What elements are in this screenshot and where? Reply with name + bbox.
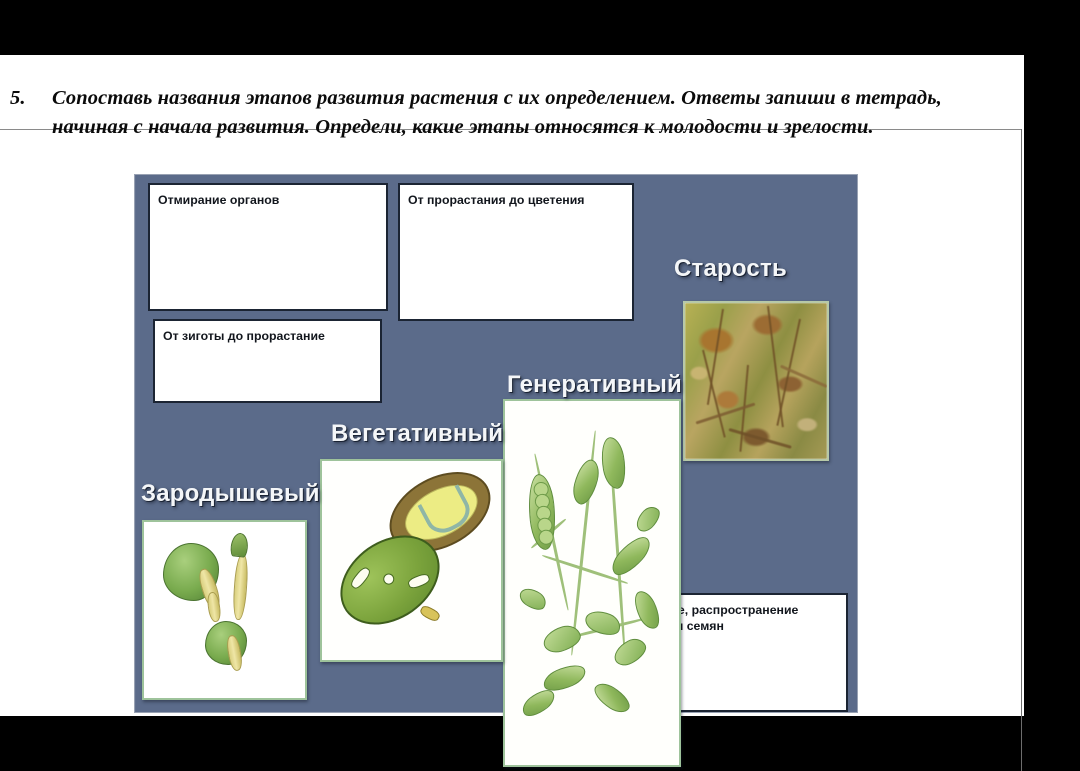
stage-label-old-age: Старость — [674, 255, 787, 283]
question-block: 5. Сопоставь названия этапов развития ра… — [10, 84, 995, 142]
presentation-slide: Отмирание органов От прорастания до цвет… — [135, 175, 857, 712]
definition-box-zygote[interactable]: От зиготы до прорастание — [153, 319, 382, 403]
question-number: 5. — [10, 84, 42, 113]
seed-cross-section-illustration-icon — [322, 461, 501, 660]
picture-old-age — [683, 301, 829, 461]
definition-box-germination-text: От прорастания до цветения — [400, 185, 632, 208]
question-text: Сопоставь названия этапов развития расте… — [52, 84, 995, 142]
page-right-rule — [1021, 129, 1022, 771]
definition-box-germination[interactable]: От прорастания до цветения — [398, 183, 634, 321]
stage-label-embryonic: Зародышевый — [141, 480, 320, 508]
picture-embryonic — [142, 520, 307, 700]
definition-box-dying[interactable]: Отмирание органов — [148, 183, 388, 311]
picture-vegetative — [320, 459, 503, 662]
germinating-seeds-illustration-icon — [144, 522, 305, 698]
picture-generative — [503, 399, 681, 767]
definition-box-zygote-text: От зиготы до прорастание — [155, 321, 380, 344]
stage-label-vegetative: Вегетативный — [331, 420, 503, 448]
stage-label-generative: Генеративный — [507, 371, 682, 399]
definition-box-dying-text: Отмирание органов — [150, 185, 386, 208]
screenshot-root: 5. Сопоставь названия этапов развития ра… — [0, 0, 1080, 716]
pea-plant-illustration-icon — [505, 401, 679, 765]
dried-plants-photo-icon — [685, 303, 827, 459]
